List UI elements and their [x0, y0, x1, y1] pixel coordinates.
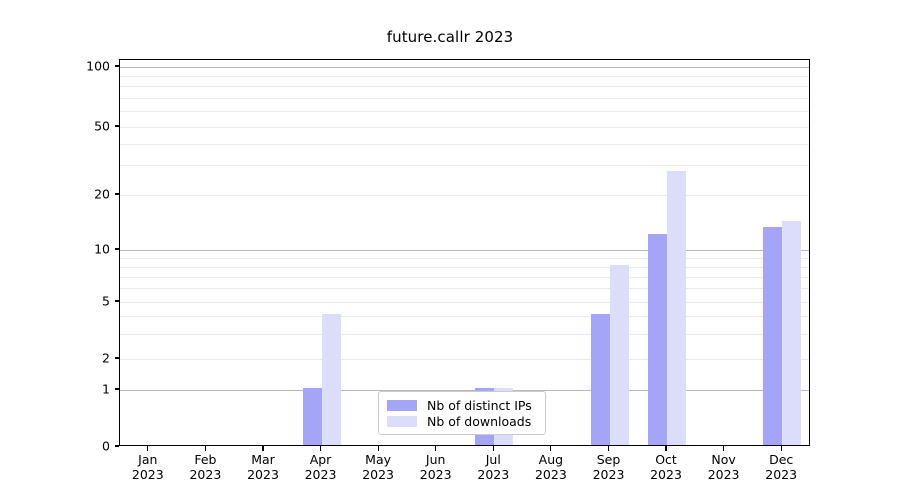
gridline — [120, 127, 809, 128]
bar-dec-downloads — [782, 221, 801, 445]
y-tick-label: 0 — [70, 439, 110, 454]
x-tick-mark — [493, 446, 494, 451]
y-axis-tick-labels: 1005020105210 — [65, 0, 110, 500]
y-tick-label: 20 — [70, 187, 110, 202]
x-tick-year: 2023 — [746, 467, 816, 482]
chart-figure: future.callr 2023 1005020105210 Jan2023F… — [0, 0, 900, 500]
x-tick-mark — [550, 446, 551, 451]
bar-sep-downloads — [610, 265, 629, 445]
legend-swatch-icon — [387, 416, 417, 427]
y-tick-mark — [115, 248, 119, 249]
y-tick-label: 5 — [70, 294, 110, 309]
gridline — [120, 288, 809, 289]
gridline — [120, 359, 809, 360]
legend-swatch-icon — [387, 400, 417, 411]
y-tick-mark — [115, 445, 119, 446]
y-tick-mark — [115, 357, 119, 358]
x-tick-label: Dec2023 — [746, 452, 816, 482]
legend-item[interactable]: Nb of downloads — [387, 413, 537, 429]
gridline — [120, 165, 809, 166]
x-tick-mark — [205, 446, 206, 451]
bar-sep-ips — [591, 314, 610, 445]
plot-area — [119, 59, 810, 446]
y-tick-label: 2 — [70, 351, 110, 366]
y-tick-mark — [115, 193, 119, 194]
x-tick-mark — [723, 446, 724, 451]
gridline — [120, 302, 809, 303]
gridline — [120, 144, 809, 145]
gridline-major — [120, 67, 809, 68]
gridline — [120, 334, 809, 335]
y-tick-mark — [115, 65, 119, 66]
y-tick-mark — [115, 300, 119, 301]
gridline — [120, 277, 809, 278]
x-tick-mark — [378, 446, 379, 451]
x-tick-mark — [435, 446, 436, 451]
y-tick-label: 1 — [70, 382, 110, 397]
bar-oct-ips — [648, 234, 667, 446]
legend-item[interactable]: Nb of distinct IPs — [387, 397, 537, 413]
x-tick-mark — [320, 446, 321, 451]
y-tick-label: 50 — [70, 119, 110, 134]
y-tick-mark — [115, 125, 119, 126]
bar-apr-downloads — [322, 314, 341, 445]
x-tick-mark — [608, 446, 609, 451]
bar-dec-ips — [763, 227, 782, 445]
gridline-major — [120, 250, 809, 251]
gridline — [120, 267, 809, 268]
gridline — [120, 111, 809, 112]
y-tick-label: 10 — [70, 242, 110, 257]
chart-legend[interactable]: Nb of distinct IPsNb of downloads — [378, 391, 546, 435]
gridline — [120, 195, 809, 196]
legend-label: Nb of distinct IPs — [427, 398, 532, 413]
x-tick-mark — [781, 446, 782, 451]
x-tick-mark — [147, 446, 148, 451]
bar-apr-ips — [303, 388, 322, 445]
gridline — [120, 316, 809, 317]
legend-label: Nb of downloads — [427, 414, 531, 429]
x-tick-mark — [262, 446, 263, 451]
gridline — [120, 76, 809, 77]
y-tick-label: 100 — [70, 59, 110, 74]
chart-title: future.callr 2023 — [0, 28, 900, 46]
bar-oct-downloads — [667, 171, 686, 445]
x-tick-month: Dec — [746, 452, 816, 467]
gridline — [120, 86, 809, 87]
y-tick-mark — [115, 388, 119, 389]
x-tick-mark — [665, 446, 666, 451]
gridline — [120, 258, 809, 259]
gridline — [120, 98, 809, 99]
